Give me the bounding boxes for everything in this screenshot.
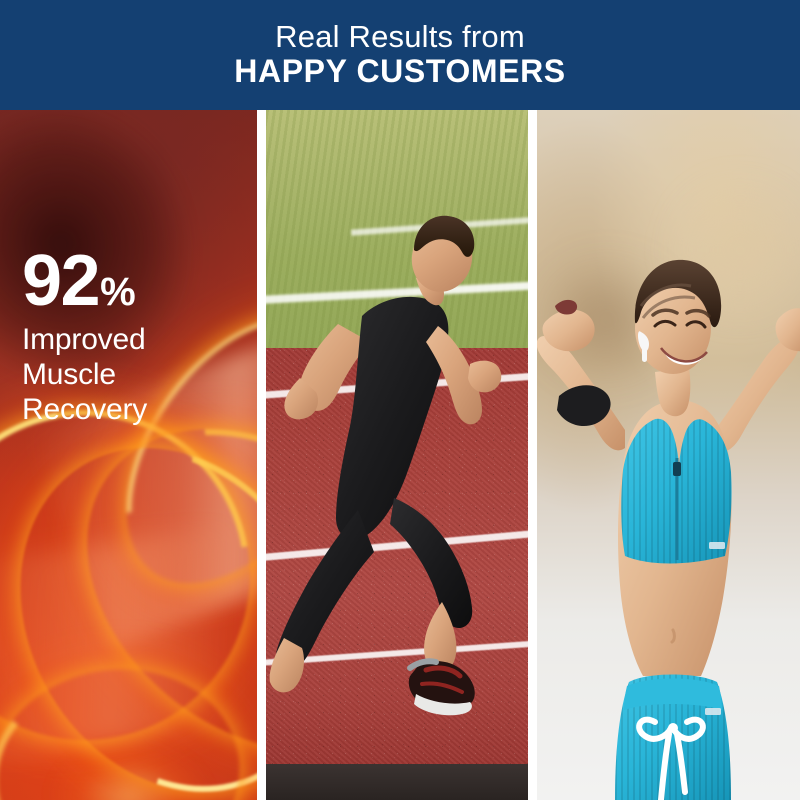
- muscle-glow-image: [0, 110, 257, 800]
- header-title-line2: HAPPY CUSTOMERS: [234, 55, 565, 89]
- panel-muscle-recovery: 92 % Improved Muscle Recovery: [0, 110, 257, 800]
- stat-label-muscle-recovery: Improved Muscle Recovery: [22, 323, 147, 427]
- poster-header: Real Results from HAPPY CUSTOMERS: [0, 0, 800, 110]
- woman-figure: [537, 110, 800, 800]
- stat-label-line1: Improved: [22, 323, 147, 358]
- sprinter-image: [266, 110, 528, 800]
- header-title-line1: Real Results from: [275, 21, 525, 54]
- panel-strip: 92 % Improved Muscle Recovery: [0, 110, 800, 800]
- panel-athletic-performance: 83 % Better Athletic Performance: [266, 110, 528, 800]
- stat-label-line3: Recovery: [22, 393, 147, 428]
- stat-value: 92: [22, 248, 99, 314]
- runner-figure: [266, 110, 528, 800]
- percent-sign: %: [100, 274, 135, 311]
- stat-label-line2: Muscle: [22, 358, 147, 393]
- stat-number-92: 92 %: [22, 248, 147, 314]
- stat-muscle-recovery: 92 % Improved Muscle Recovery: [22, 248, 147, 428]
- poster: Real Results from HAPPY CUSTOMERS 92: [0, 0, 800, 800]
- panel-energy-boost: 93 % Energy Boost: [537, 110, 800, 800]
- woman-activewear-image: [537, 110, 800, 800]
